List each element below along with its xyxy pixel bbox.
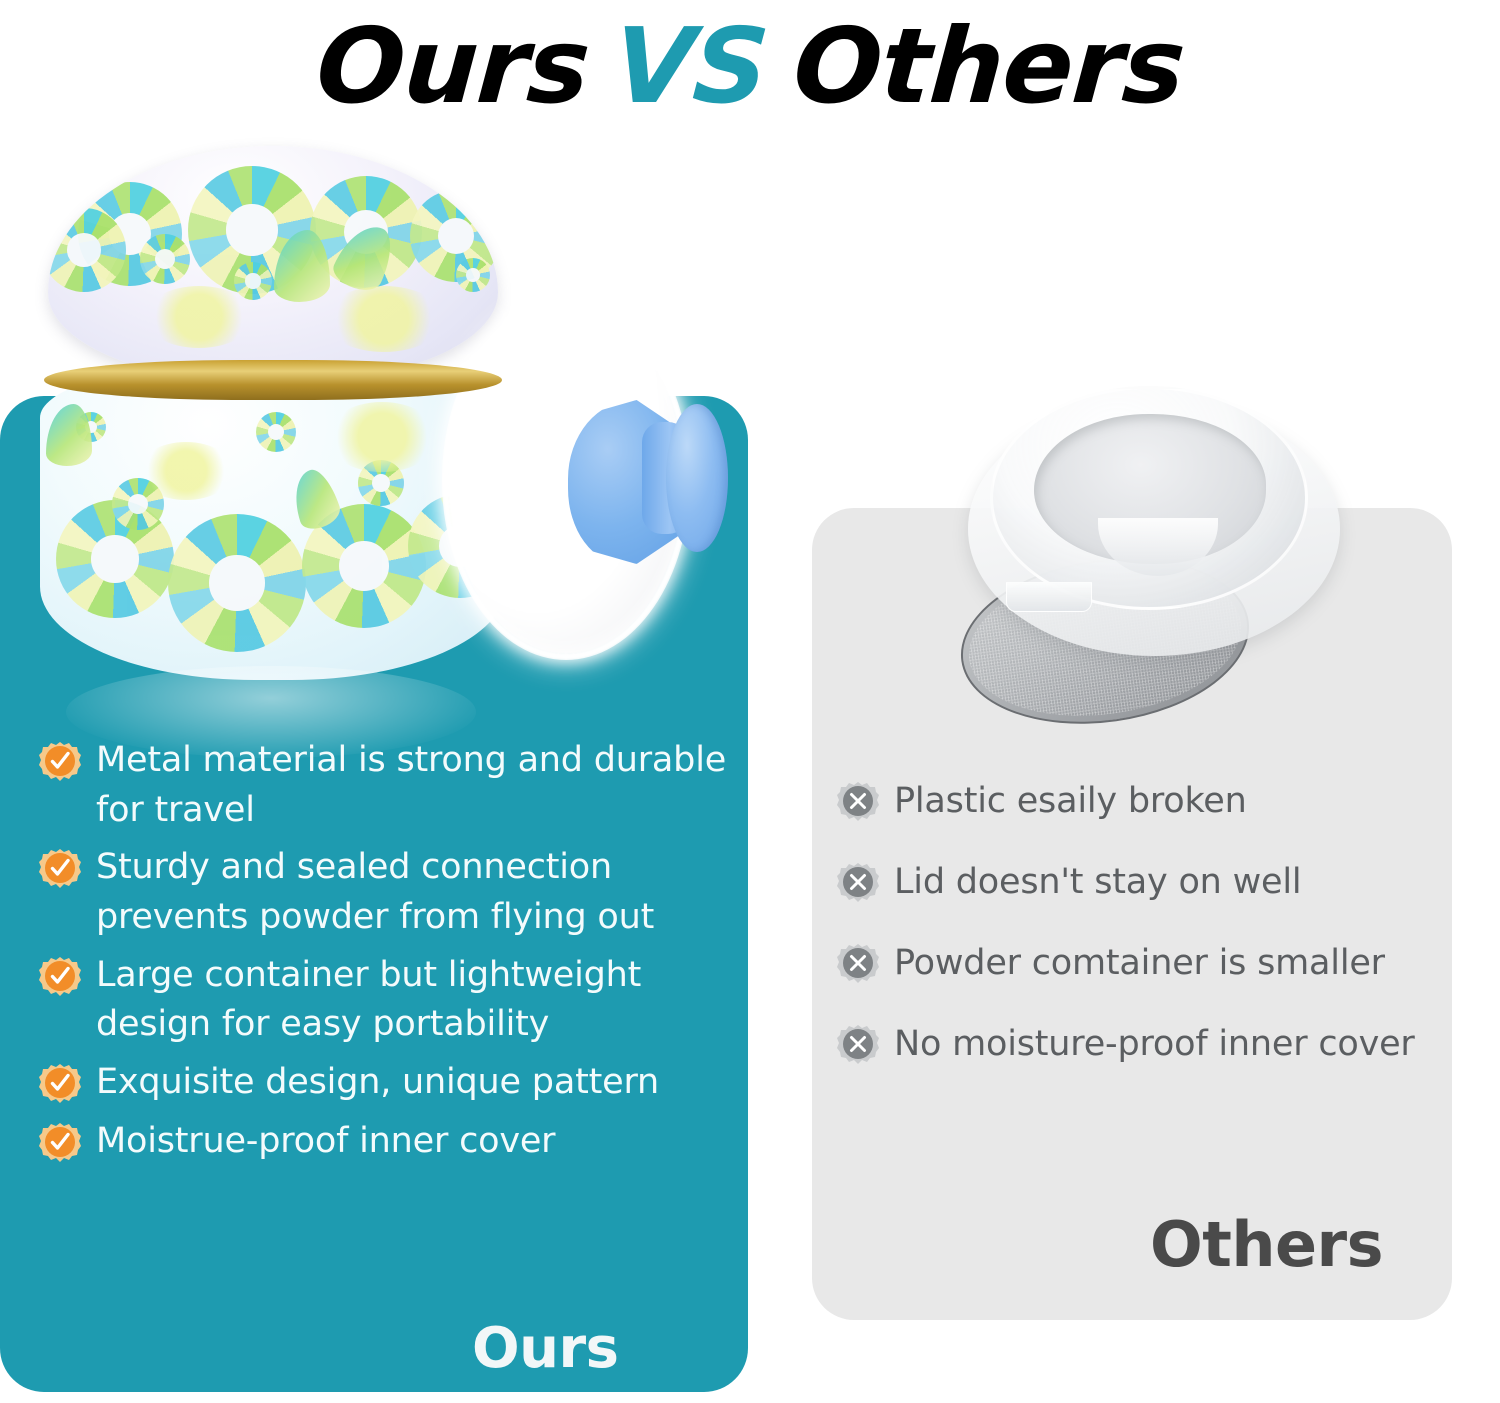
tin-body bbox=[40, 368, 506, 680]
check-badge-icon bbox=[38, 956, 82, 1002]
list-item-label: Large container but lightweight design f… bbox=[96, 951, 728, 1050]
list-item: Plastic esaily broken bbox=[836, 776, 1466, 827]
cross-badge-icon bbox=[836, 862, 880, 908]
list-item: Lid doesn't stay on well bbox=[836, 857, 1466, 908]
title-word-ours: Ours bbox=[313, 14, 592, 118]
ours-product-image bbox=[26, 146, 516, 706]
list-item: Moistrue-proof inner cover bbox=[38, 1117, 728, 1168]
list-item: Metal material is strong and durable for… bbox=[38, 736, 728, 835]
list-item-label: Moistrue-proof inner cover bbox=[96, 1117, 555, 1167]
list-item: Powder comtainer is smaller bbox=[836, 938, 1466, 989]
tin-lid bbox=[48, 146, 498, 382]
list-item-label: Sturdy and sealed connection prevents po… bbox=[96, 843, 728, 942]
tin-gold-band bbox=[44, 360, 502, 400]
list-item: Sturdy and sealed connection prevents po… bbox=[38, 843, 728, 942]
others-panel-label: Others bbox=[1150, 1208, 1383, 1281]
others-product-image bbox=[950, 378, 1354, 742]
list-item-label: Powder comtainer is smaller bbox=[894, 939, 1385, 989]
title-word-others: Others bbox=[790, 14, 1187, 118]
ours-panel-label: Ours bbox=[472, 1316, 618, 1381]
list-item-label: Plastic esaily broken bbox=[894, 777, 1247, 827]
list-item-label: No moisture-proof inner cover bbox=[894, 1020, 1415, 1070]
puff-handle-knob bbox=[666, 404, 728, 552]
plastic-lid-tab bbox=[1006, 582, 1092, 612]
ours-feature-list: Metal material is strong and durable for… bbox=[38, 736, 728, 1176]
list-item: Exquisite design, unique pattern bbox=[38, 1058, 728, 1109]
page-title: Ours VS Others bbox=[0, 6, 1500, 126]
others-feature-list: Plastic esaily broken Lid doesn't stay o… bbox=[836, 776, 1466, 1100]
title-word-vs: VS bbox=[611, 14, 772, 118]
list-item-label: Exquisite design, unique pattern bbox=[96, 1058, 659, 1108]
list-item: No moisture-proof inner cover bbox=[836, 1019, 1466, 1070]
check-badge-icon bbox=[38, 741, 82, 787]
powder-puff bbox=[448, 296, 748, 666]
cross-badge-icon bbox=[836, 781, 880, 827]
list-item-label: Metal material is strong and durable for… bbox=[96, 736, 728, 835]
list-item-label: Lid doesn't stay on well bbox=[894, 858, 1301, 908]
list-item: Large container but lightweight design f… bbox=[38, 951, 728, 1050]
check-badge-icon bbox=[38, 1122, 82, 1168]
cross-badge-icon bbox=[836, 1024, 880, 1070]
check-badge-icon bbox=[38, 1063, 82, 1109]
check-badge-icon bbox=[38, 848, 82, 894]
cross-badge-icon bbox=[836, 943, 880, 989]
